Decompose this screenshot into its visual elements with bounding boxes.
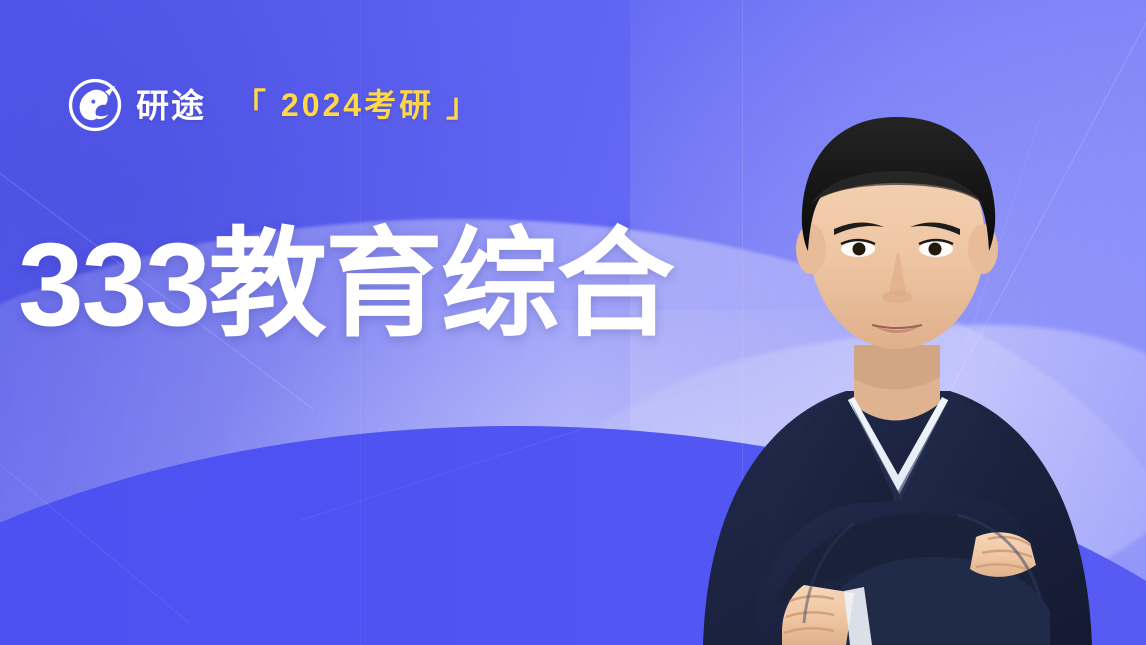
instructor-portrait <box>658 45 1128 645</box>
year-tag: 「 2024考研 」 <box>234 89 481 121</box>
brand-name: 研途 <box>136 89 206 122</box>
course-banner: 研途 「 2024考研 」 333教育综合 <box>0 0 1146 645</box>
unicorn-circle-icon <box>68 78 122 132</box>
brand-header: 研途 「 2024考研 」 <box>68 78 481 132</box>
background-hairline <box>0 430 190 624</box>
page-title: 333教育综合 <box>18 222 673 349</box>
